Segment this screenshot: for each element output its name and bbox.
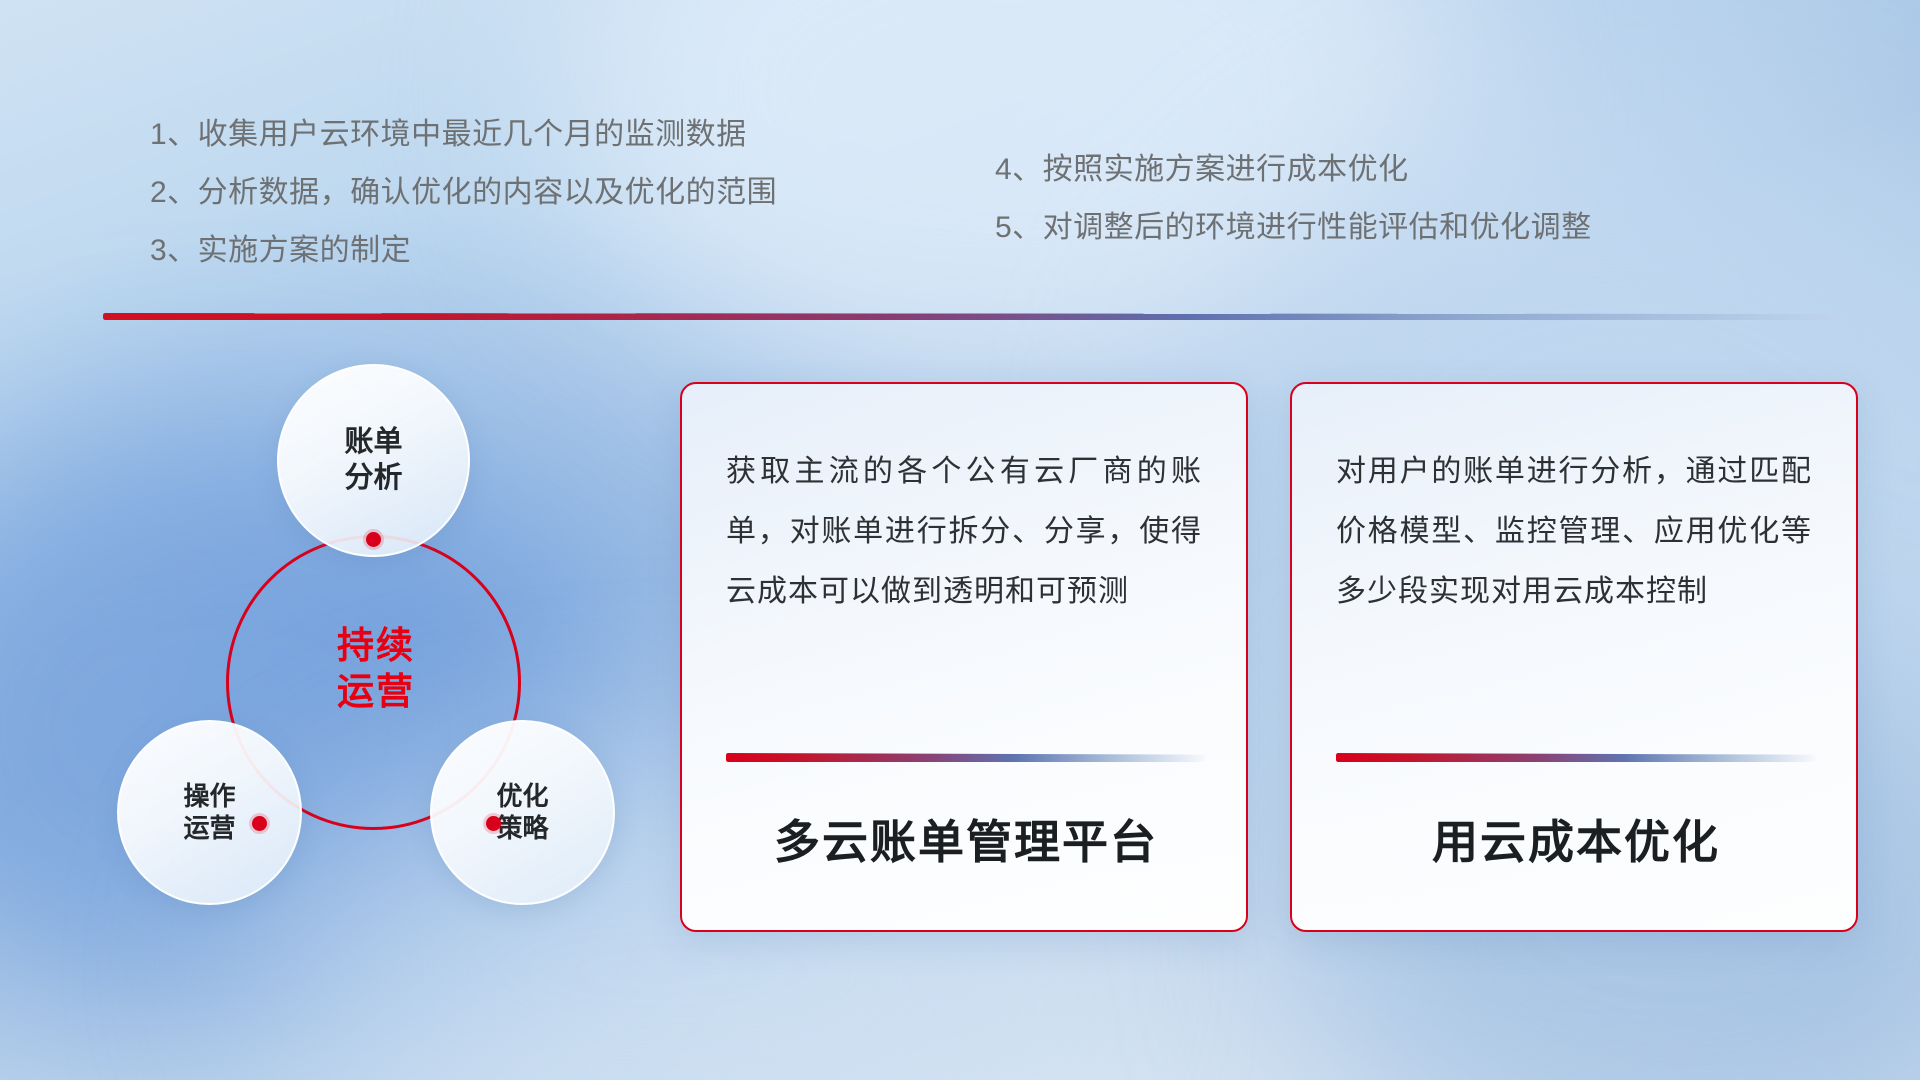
diagram-node-dot-left: [252, 816, 267, 831]
diagram-center-label-line2: 运营: [286, 669, 466, 715]
info-card-2-title: 用云成本优化: [1336, 806, 1816, 872]
bubble-top-line1: 账单: [344, 425, 402, 460]
bubble-top-line2: 分析: [344, 461, 402, 496]
diagram-bubble-bill-analysis[interactable]: 账单 分析: [277, 364, 470, 557]
step-item-2: 2、分析数据，确认优化的内容以及优化的范围: [150, 178, 777, 208]
info-card-2-body: 对用户的账单进行分析，通过匹配价格模型、监控管理、应用优化等多少段实现对用云成本…: [1336, 442, 1812, 622]
diagram-bubble-operations[interactable]: 操作 运营: [117, 720, 302, 905]
header-divider-rule: [103, 313, 1848, 320]
info-card-multicloud-billing[interactable]: 获取主流的各个公有云厂商的账单，对账单进行拆分、分享，使得云成本可以做到透明和可…: [680, 382, 1248, 932]
bubble-right-line2: 策略: [496, 813, 548, 845]
bubble-left-line1: 操作: [183, 781, 235, 813]
diagram-node-dot-top: [366, 532, 381, 547]
diagram-node-dot-right: [486, 816, 501, 831]
step-item-4: 4、按照实施方案进行成本优化: [995, 155, 1592, 185]
info-card-1-divider: [726, 753, 1206, 762]
bubble-left-line2: 运营: [183, 813, 235, 845]
step-item-3: 3、实施方案的制定: [150, 236, 777, 266]
info-card-cloud-cost-optimization[interactable]: 对用户的账单进行分析，通过匹配价格模型、监控管理、应用优化等多少段实现对用云成本…: [1290, 382, 1858, 932]
bubble-right-line1: 优化: [496, 781, 548, 813]
diagram-center-label-line1: 持续: [286, 623, 466, 669]
step-item-1: 1、收集用户云环境中最近几个月的监测数据: [150, 120, 777, 150]
info-card-1-title: 多云账单管理平台: [726, 806, 1206, 872]
slide-canvas: 1、收集用户云环境中最近几个月的监测数据 2、分析数据，确认优化的内容以及优化的…: [0, 0, 1920, 1080]
continuous-operation-diagram: 持续 运营 账单 分析 操作 运营 优化 策略: [100, 350, 660, 950]
diagram-bubble-optimization-strategy[interactable]: 优化 策略: [430, 720, 615, 905]
diagram-center-label: 持续 运营: [286, 623, 466, 716]
info-card-2-divider: [1336, 753, 1816, 762]
steps-list-left: 1、收集用户云环境中最近几个月的监测数据 2、分析数据，确认优化的内容以及优化的…: [150, 120, 777, 266]
step-item-5: 5、对调整后的环境进行性能评估和优化调整: [995, 213, 1592, 243]
info-card-1-body: 获取主流的各个公有云厂商的账单，对账单进行拆分、分享，使得云成本可以做到透明和可…: [726, 442, 1202, 622]
steps-list-right: 4、按照实施方案进行成本优化 5、对调整后的环境进行性能评估和优化调整: [995, 155, 1592, 243]
